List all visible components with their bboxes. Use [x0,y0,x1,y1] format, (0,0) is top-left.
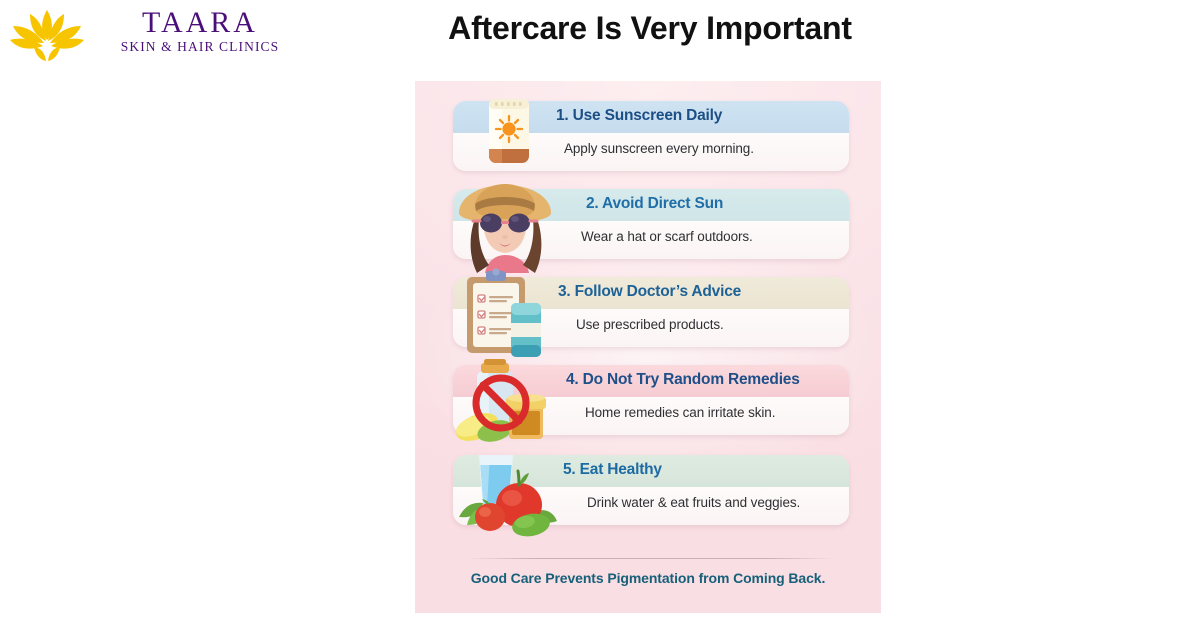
poster-divider [467,558,835,559]
woman-with-sunhat-and-sunglasses-icon [447,177,567,273]
tip-title: 2. Avoid Direct Sun [586,195,723,213]
page-header: TAARA SKIN & HAIR CLINICS Aftercare Is V… [0,0,1200,70]
water-glass-and-vegetables-icon [449,441,563,537]
tip-title: 5. Eat Healthy [563,461,662,479]
aftercare-poster: 1. Use Sunscreen Daily Apply sunscreen e… [415,81,881,613]
brand-text-block: TAARA SKIN & HAIR CLINICS [90,7,310,55]
tip-title: 3. Follow Doctor’s Advice [558,283,741,301]
brand-logo: TAARA SKIN & HAIR CLINICS [8,4,308,64]
tip-description: Apply sunscreen every morning. [564,141,754,156]
tip-description: Use prescribed products. [576,317,724,332]
tip-description: Drink water & eat fruits and veggies. [587,495,800,510]
poster-footer-text: Good Care Prevents Pigmentation from Com… [415,570,881,586]
no-home-remedies-prohibition-icon [449,353,561,445]
tips-list: 1. Use Sunscreen Daily Apply sunscreen e… [415,81,881,613]
lotus-flower-icon [8,6,86,62]
clipboard-checklist-and-cream-tube-icon [449,265,561,359]
sunscreen-bottle-icon [453,93,563,175]
brand-name: TAARA [90,7,310,39]
page-title: Aftercare Is Very Important [300,10,1000,47]
tip-title: 4. Do Not Try Random Remedies [566,371,800,389]
tip-description: Home remedies can irritate skin. [585,405,775,420]
tip-description: Wear a hat or scarf outdoors. [581,229,753,244]
brand-tagline: SKIN & HAIR CLINICS [90,39,310,55]
tip-title: 1. Use Sunscreen Daily [556,107,722,125]
